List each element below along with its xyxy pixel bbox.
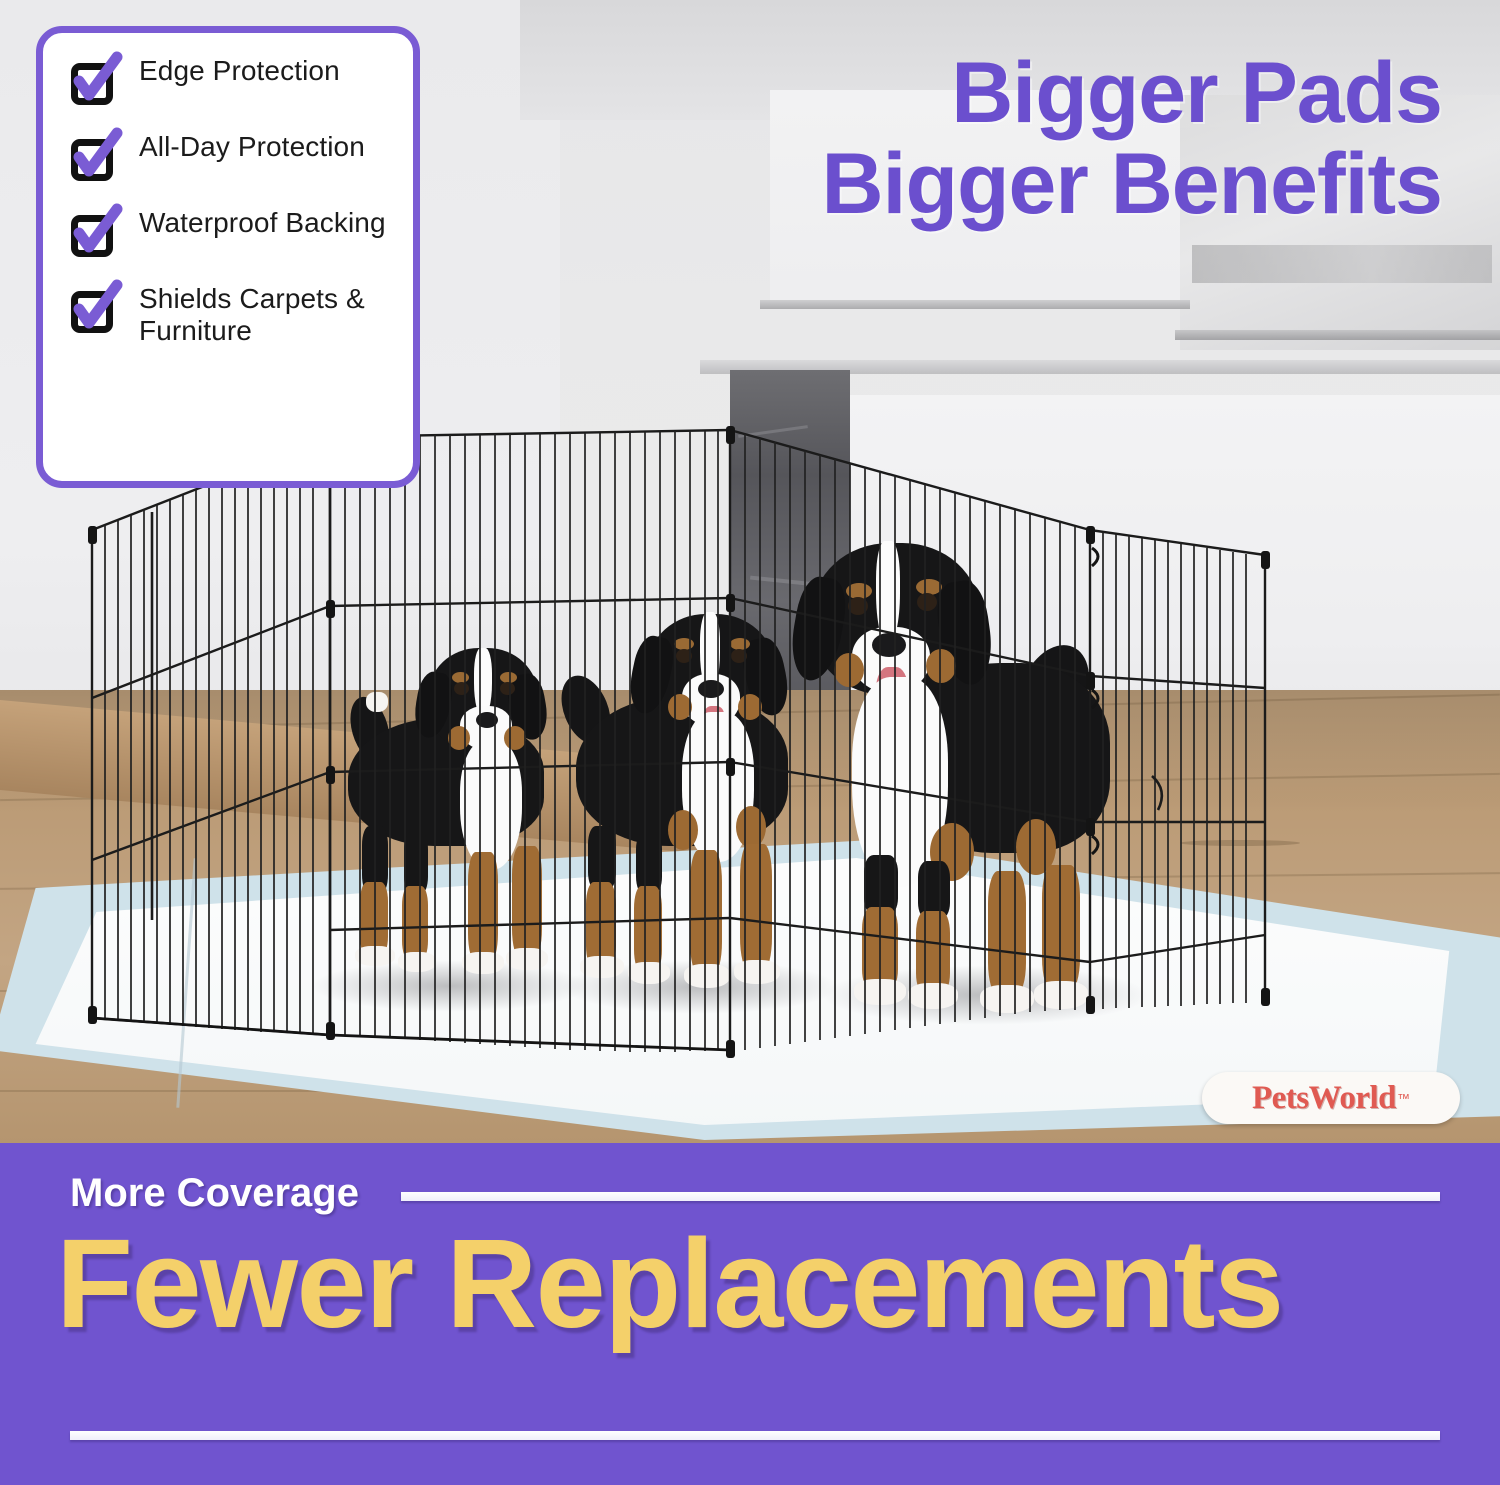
benefit-item-waterproof-backing: Waterproof Backing <box>65 207 395 261</box>
bottom-banner: More Coverage Fewer Replacements <box>0 1143 1500 1485</box>
benefit-label: Shields Carpets & Furniture <box>139 283 395 347</box>
kitchen-shelf-line <box>760 300 1190 309</box>
checkbox-check-icon <box>65 209 123 261</box>
dog-right-large <box>780 535 1180 1035</box>
product-marketing-image: Edge Protection All-Day Protection Water… <box>0 0 1500 1485</box>
headline-line-1: Bigger Pads <box>821 48 1442 139</box>
trademark-symbol: ™ <box>1397 1091 1410 1106</box>
checkbox-check-icon <box>65 133 123 185</box>
headline-line-2: Bigger Benefits <box>821 139 1442 230</box>
brand-name: PetsWorld <box>1252 1080 1396 1117</box>
banner-subhead: More Coverage <box>70 1171 359 1216</box>
benefits-card: Edge Protection All-Day Protection Water… <box>36 26 420 488</box>
petsworld-logo: PetsWorld™ <box>1202 1072 1460 1124</box>
benefit-item-edge-protection: Edge Protection <box>65 55 395 109</box>
banner-rule-top <box>401 1192 1440 1201</box>
benefit-label: Edge Protection <box>139 55 340 87</box>
benefit-label: Waterproof Backing <box>139 207 386 239</box>
checkbox-check-icon <box>65 57 123 109</box>
banner-headline: Fewer Replacements <box>56 1221 1456 1347</box>
kitchen-shelf-line-right <box>1175 330 1500 340</box>
banner-subhead-row: More Coverage <box>70 1171 1440 1216</box>
banner-rule-bottom <box>70 1431 1440 1440</box>
main-headline: Bigger Pads Bigger Benefits <box>821 48 1442 230</box>
benefit-item-all-day-protection: All-Day Protection <box>65 131 395 185</box>
benefit-label: All-Day Protection <box>139 131 365 163</box>
checkbox-check-icon <box>65 285 123 337</box>
benefit-item-shields-carpets-furniture: Shields Carpets & Furniture <box>65 283 395 347</box>
